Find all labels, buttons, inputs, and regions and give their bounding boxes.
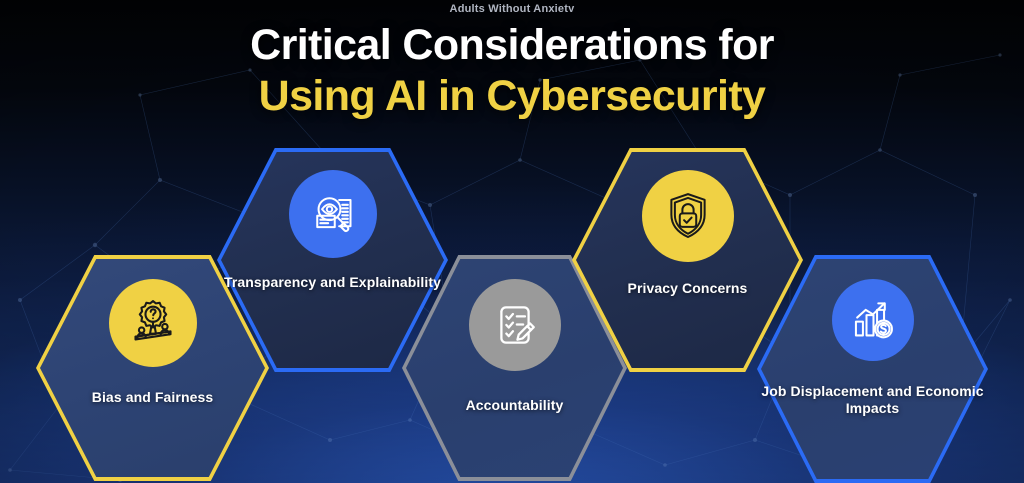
checklist-pencil-icon: [486, 296, 544, 354]
cropped-header-label: Adults Without Anxiety: [450, 4, 575, 12]
hexagon-label-accountability: Accountability: [466, 397, 564, 414]
title-line-2: Using AI in Cybersecurity: [0, 70, 1024, 122]
page-title: Critical Considerations for Using AI in …: [0, 20, 1024, 122]
balance-scale-question-icon: [125, 295, 181, 351]
infographic-stage: Adults Without Anxiety Critical Consider…: [0, 0, 1024, 483]
icon-circle-accountability: [469, 279, 561, 371]
title-line-1: Critical Considerations for: [0, 20, 1024, 70]
hexagon-card-bias-and-fairness[interactable]: Bias and Fairness: [36, 255, 269, 481]
hexagon-label-job-displacement: Job Displacement and Economic Impacts: [757, 383, 988, 417]
shield-lock-check-icon: [660, 188, 716, 244]
bar-chart-dollar-growth-icon: [847, 294, 899, 346]
hexagon-label-bias-and-fairness: Bias and Fairness: [92, 389, 214, 406]
icon-circle-job-displacement: [832, 279, 914, 361]
cropped-header-text: Adults Without Anxiety: [0, 0, 1024, 12]
magnifier-eye-document-icon: [305, 186, 361, 242]
hexagon-card-job-displacement[interactable]: Job Displacement and Economic Impacts: [757, 255, 988, 483]
icon-circle-privacy: [642, 170, 734, 262]
hexagon-label-privacy: Privacy Concerns: [628, 280, 748, 297]
icon-circle-bias-and-fairness: [109, 279, 197, 367]
icon-circle-transparency: [289, 170, 377, 258]
